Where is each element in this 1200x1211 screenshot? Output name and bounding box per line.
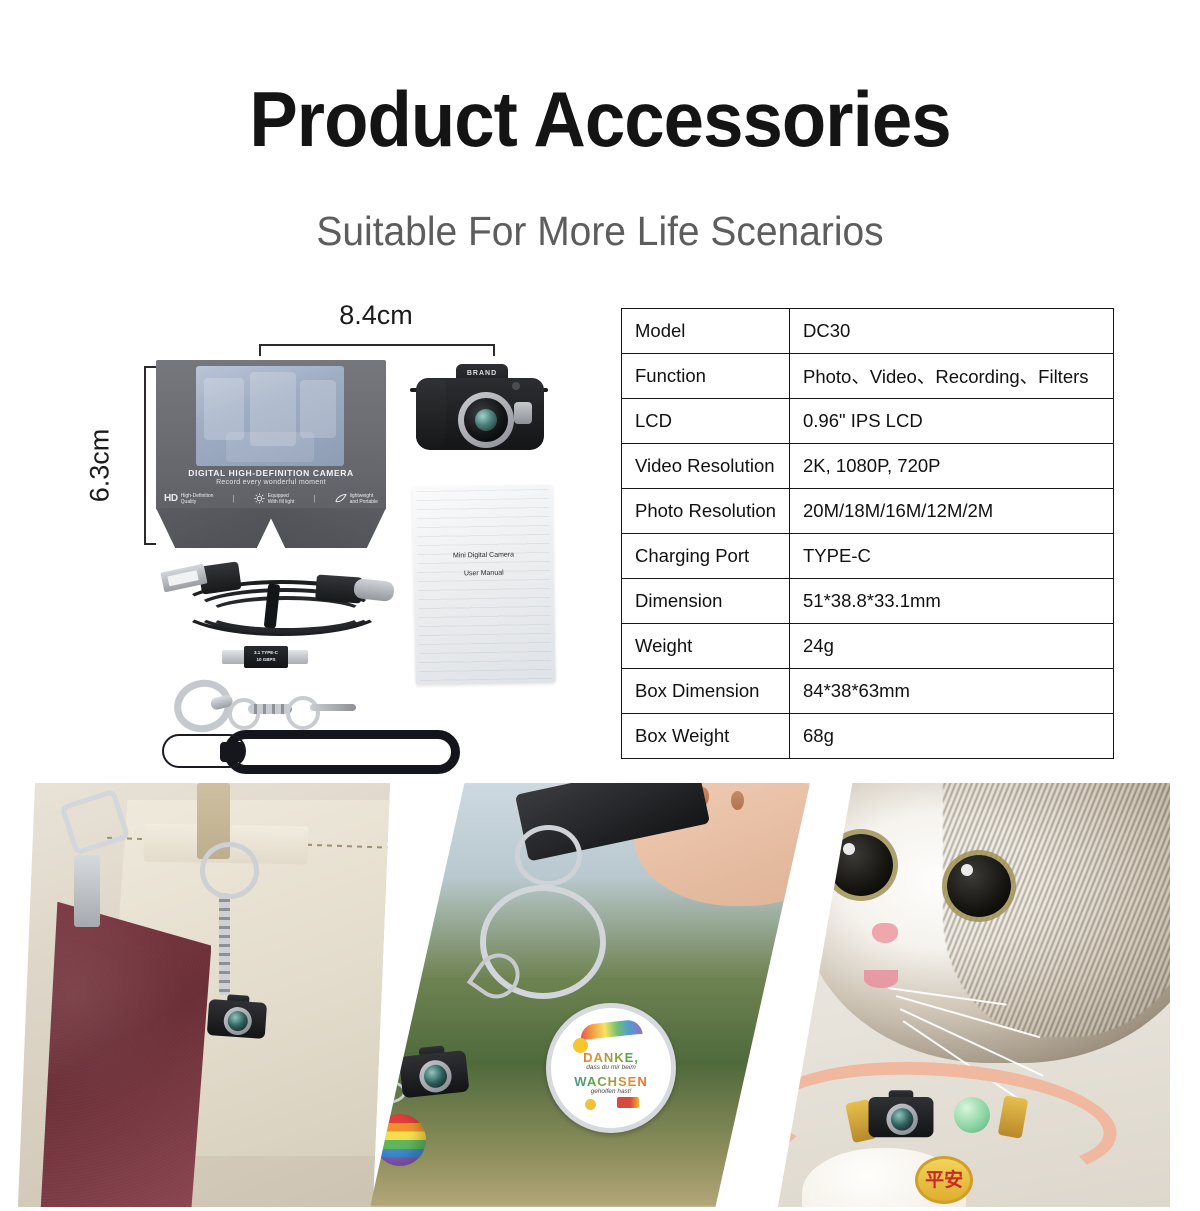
charm-line3: WACHSEN [556, 1074, 666, 1089]
spec-value: 2K, 1080P, 720P [790, 444, 1114, 489]
spec-value: DC30 [790, 309, 1114, 354]
charm-line2: dass du mir beim [556, 1064, 666, 1071]
feather-icon [335, 493, 347, 506]
box-headline: DIGITAL HIGH-DEFINITION CAMERA [156, 468, 386, 478]
spec-key: Function [622, 354, 790, 399]
badge-hd-text: High-Definition Quality [181, 493, 214, 505]
badge-fill-light-text: Equipped With fill light [268, 493, 295, 505]
table-row: Video Resolution 2K, 1080P, 720P [622, 444, 1114, 489]
train-icon [617, 1097, 639, 1108]
adapter-line2: 10 GBPS [244, 657, 288, 662]
spec-value: 0.96" IPS LCD [790, 399, 1114, 444]
spec-key: Weight [622, 624, 790, 669]
spec-value: Photo、Video、Recording、Filters [790, 354, 1114, 399]
box-width-label: 8.4cm [296, 300, 456, 331]
table-row: Model DC30 [622, 309, 1114, 354]
usb-c-connector [353, 578, 395, 602]
badge-separator: | [233, 496, 235, 502]
lifestyle-photo-strip: DANKE, dass du mir beim WACHSEN geholfen… [0, 783, 1200, 1211]
rainbow-bead [374, 1114, 426, 1166]
collar-luck-pendant: 平安 [915, 1156, 973, 1204]
manual-title-line1: Mini Digital Camera [413, 551, 553, 560]
hd-icon: HD [164, 496, 178, 502]
spec-key: Box Weight [622, 714, 790, 759]
camera-lens-glass [475, 409, 497, 431]
badge-hd-line2: Quality [181, 499, 197, 505]
keychain-chain [219, 893, 230, 995]
mini-camera-charm [398, 1043, 470, 1103]
scene-cat-photo: 平安 [778, 783, 1170, 1207]
spec-value: 68g [790, 714, 1114, 759]
camera-grip [416, 380, 446, 448]
spec-key: Photo Resolution [622, 489, 790, 534]
handbag-zipper-pull [74, 855, 100, 927]
badge-lightweight-text: lightweight and Portable [350, 493, 378, 505]
camera-product-image: BRAND [416, 358, 544, 458]
box-bottom-flap-left [156, 508, 276, 548]
badge-fill-line2: With fill light [268, 499, 295, 505]
scene-keyring-photo: DANKE, dass du mir beim WACHSEN geholfen… [370, 783, 810, 1207]
rainbow-arc-icon [580, 1019, 643, 1041]
camera-lens-ring [458, 392, 514, 448]
scene-handbag-photo [18, 783, 390, 1207]
spec-value: TYPE-C [790, 534, 1114, 579]
adapter-line1: 3.1 TYPE-C [244, 650, 288, 655]
width-dimension-bracket [259, 344, 495, 356]
cat-eye-left [829, 834, 893, 896]
spec-key: Dimension [622, 579, 790, 624]
box-tagline: Record every wonderful moment [156, 479, 386, 486]
cat-eye-right [947, 855, 1011, 917]
keychain-tail-clasp [310, 704, 356, 711]
table-row: Dimension 51*38.8*33.1mm [622, 579, 1114, 624]
table-row: Charging Port TYPE-C [622, 534, 1114, 579]
user-manual-booklet: Mini Digital Camera User Manual [412, 485, 555, 685]
height-dimension-bracket [144, 366, 156, 545]
badge-fill-light: Equipped With fill light [254, 493, 295, 506]
camera-sensor-dot [512, 382, 520, 390]
spec-value: 20M/18M/16M/12M/2M [790, 489, 1114, 534]
spec-value: 51*38.8*33.1mm [790, 579, 1114, 624]
specification-table: Model DC30 Function Photo、Video、Recordin… [621, 308, 1114, 759]
handbag-burgundy-panel [40, 902, 211, 1207]
box-feature-badges: HD High-Definition Quality | Equipped Wi… [164, 491, 378, 507]
cat-nose [872, 923, 898, 943]
type-c-adapter: 3.1 TYPE-C 10 GBPS [222, 646, 308, 668]
lanyard-loop [224, 730, 460, 774]
tray-cavity [204, 378, 244, 440]
box-window [196, 366, 344, 466]
charm-line4: geholfen hast! [556, 1088, 666, 1095]
table-row: Photo Resolution 20M/18M/16M/12M/2M [622, 489, 1114, 534]
tray-cavity [300, 380, 336, 438]
camera-side-knob [514, 402, 532, 424]
spec-key: Box Dimension [622, 669, 790, 714]
manual-title-line2: User Manual [414, 569, 554, 578]
table-row: Function Photo、Video、Recording、Filters [622, 354, 1114, 399]
spec-key: Charging Port [622, 534, 790, 579]
mini-camera-charm [869, 1090, 934, 1142]
spec-value: 84*38*63mm [790, 669, 1114, 714]
glass-charm-disc: DANKE, dass du mir beim WACHSEN geholfen… [546, 1003, 676, 1133]
flower-icon [585, 1099, 596, 1110]
table-row: Weight 24g [622, 624, 1114, 669]
table-row: LCD 0.96" IPS LCD [622, 399, 1114, 444]
mini-camera-charm [206, 993, 267, 1043]
badge-separator: | [313, 496, 315, 502]
lanyard-cord-lock [220, 742, 244, 762]
handbag-d-ring [200, 842, 258, 899]
spec-key: LCD [622, 399, 790, 444]
box-height-label: 6.3cm [85, 396, 116, 536]
table-row: Box Dimension 84*38*63mm [622, 669, 1114, 714]
badge-light-line2: and Portable [350, 499, 378, 505]
pendant-text: 平安 [925, 1172, 963, 1189]
package-contents-collage: 8.4cm 6.3cm DIGITAL HIGH-DEFINITION CAME… [96, 300, 616, 780]
camera-brand-text: BRAND [456, 370, 508, 377]
sun-icon [254, 493, 265, 506]
retail-box: DIGITAL HIGH-DEFINITION CAMERA Record ev… [156, 360, 386, 545]
wrist-lanyard [160, 724, 460, 778]
box-bottom-flap-right [266, 508, 386, 548]
badge-lightweight: lightweight and Portable [335, 493, 378, 506]
spec-key: Model [622, 309, 790, 354]
badge-hd: HD High-Definition Quality [164, 493, 213, 505]
spec-value: 24g [790, 624, 1114, 669]
tray-cavity [226, 432, 314, 462]
box-front-face: DIGITAL HIGH-DEFINITION CAMERA Record ev… [156, 360, 386, 510]
cat-mouth [864, 970, 898, 988]
keychain-and-lanyard [152, 672, 492, 782]
spec-key: Video Resolution [622, 444, 790, 489]
page-subtitle: Suitable For More Life Scenarios [30, 208, 1170, 254]
charm-line1: DANKE, [556, 1050, 666, 1065]
usb-cable [148, 562, 418, 642]
page-title: Product Accessories [42, 78, 1158, 160]
camera-lens [464, 398, 508, 442]
table-row: Box Weight 68g [622, 714, 1114, 759]
collar-green-bead [954, 1097, 990, 1133]
